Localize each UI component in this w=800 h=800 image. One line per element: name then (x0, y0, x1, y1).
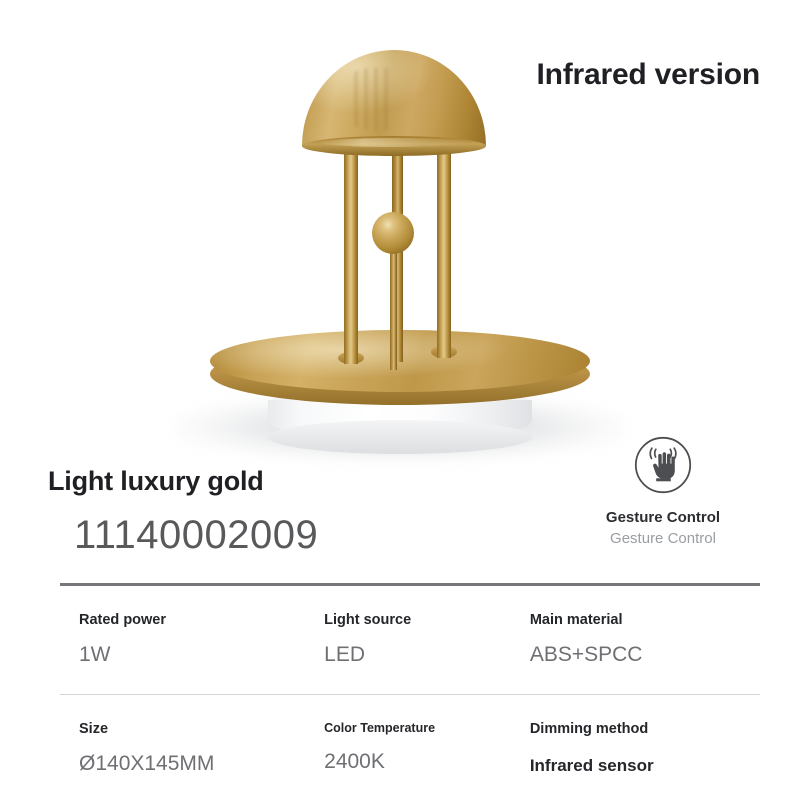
dome-lip-highlight (318, 138, 470, 147)
product-model-number: 11140002009 (74, 513, 318, 558)
gesture-control-badge: Gesture Control Gesture Control (588, 436, 738, 547)
spec-value: LED (324, 643, 530, 667)
spec-label: Size (79, 721, 310, 737)
specifications-table: Rated power 1W Light source LED Main mat… (60, 583, 760, 776)
spec-label: Dimming method (530, 721, 760, 737)
spec-cell-color-temperature: Color Temperature 2400K (310, 721, 530, 776)
headline-infrared-version: Infrared version (536, 58, 760, 92)
lamp-post-right (437, 140, 451, 358)
spec-cell-rated-power: Rated power 1W (60, 612, 310, 667)
lamp-dome-shade (302, 50, 486, 146)
spec-label: Main material (530, 612, 760, 628)
spec-cell-main-material: Main material ABS+SPCC (530, 612, 760, 667)
spec-row-2: Size Ø140X145MM Color Temperature 2400K … (60, 695, 760, 776)
hand-gesture-icon (588, 436, 738, 499)
spec-cell-size: Size Ø140X145MM (60, 721, 310, 776)
gesture-control-subtitle: Gesture Control (588, 530, 738, 547)
spec-value: ABS+SPCC (530, 643, 760, 667)
spec-label: Color Temperature (324, 721, 530, 735)
spec-row-1: Rated power 1W Light source LED Main mat… (60, 586, 760, 694)
spec-cell-light-source: Light source LED (310, 612, 530, 667)
spec-value: Infrared sensor (530, 756, 760, 776)
spec-value: 1W (79, 643, 310, 667)
sensor-ball-stem (390, 245, 397, 370)
sensor-ball (372, 212, 414, 254)
spec-cell-dimming-method: Dimming method Infrared sensor (530, 721, 760, 776)
gesture-control-title: Gesture Control (588, 509, 738, 526)
spec-label: Light source (324, 612, 530, 628)
lamp-post-left (344, 140, 358, 364)
dome-hand-reflection (354, 68, 416, 130)
spec-value: Ø140X145MM (79, 752, 310, 776)
spec-value: 2400K (324, 750, 530, 774)
spec-label: Rated power (79, 612, 310, 628)
base-plinth-bottom (268, 420, 532, 454)
product-color-name: Light luxury gold (48, 466, 264, 497)
